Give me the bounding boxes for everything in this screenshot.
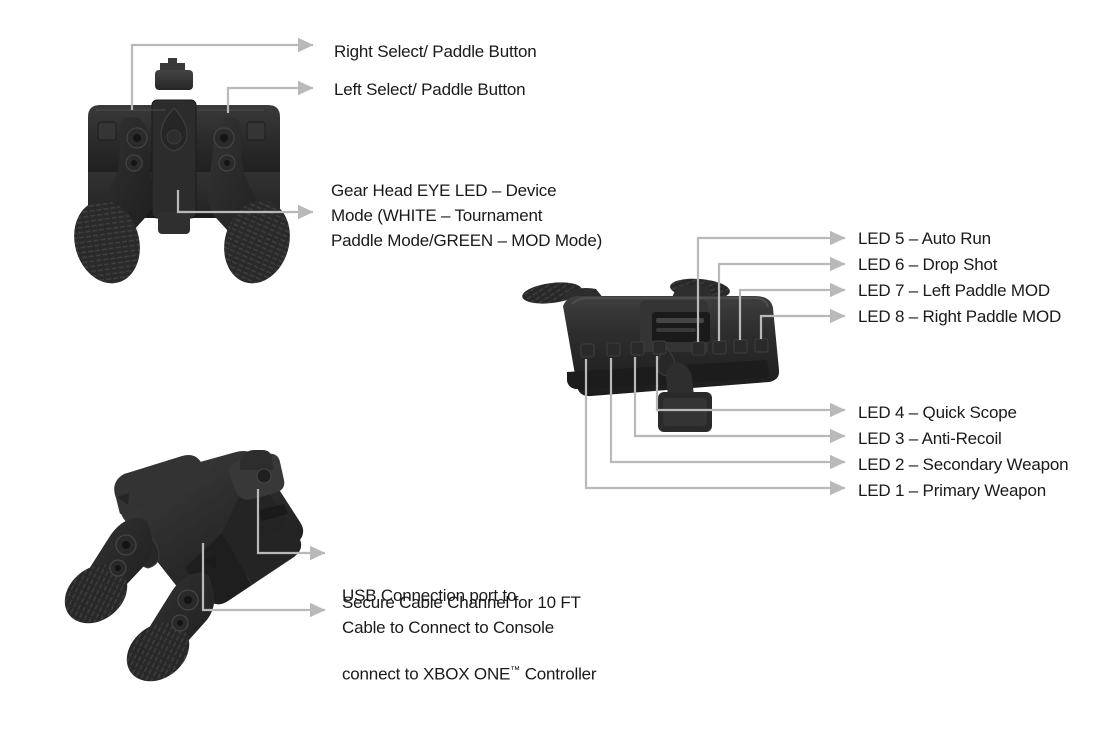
callout-led3-anti-recoil: LED 3 – Anti-Recoil bbox=[858, 426, 1002, 451]
callout-led5-auto-run: LED 5 – Auto Run bbox=[858, 226, 991, 251]
device-bottom-angled-view bbox=[53, 450, 303, 693]
callout-led7-left-paddle-mod: LED 7 – Left Paddle MOD bbox=[858, 278, 1050, 303]
callout-led6-drop-shot: LED 6 – Drop Shot bbox=[858, 252, 997, 277]
callout-secure-cable-channel: Secure Cable Channel for 10 FT Cable to … bbox=[342, 590, 581, 640]
callout-left-select-paddle-button: Left Select/ Paddle Button bbox=[334, 77, 525, 102]
callout-led8-right-paddle-mod: LED 8 – Right Paddle MOD bbox=[858, 304, 1061, 329]
usb-line-2: connect to XBOX ONE™ Controller bbox=[342, 658, 596, 687]
callout-gear-head-eye-led: Gear Head EYE LED – Device Mode (WHITE –… bbox=[331, 178, 602, 253]
callout-led4-quick-scope: LED 4 – Quick Scope bbox=[858, 400, 1017, 425]
device-top-rear-view bbox=[65, 58, 300, 291]
trademark-symbol: ™ bbox=[510, 665, 520, 676]
diagram-canvas: Right Select/ Paddle Button Left Select/… bbox=[0, 0, 1117, 697]
callout-led2-secondary-weapon: LED 2 – Secondary Weapon bbox=[858, 452, 1068, 477]
usb-line-2-suffix: Controller bbox=[520, 665, 596, 684]
callout-led1-primary-weapon: LED 1 – Primary Weapon bbox=[858, 478, 1046, 503]
callout-right-select-paddle-button: Right Select/ Paddle Button bbox=[334, 39, 537, 64]
usb-line-2-text: connect to XBOX ONE bbox=[342, 665, 510, 684]
